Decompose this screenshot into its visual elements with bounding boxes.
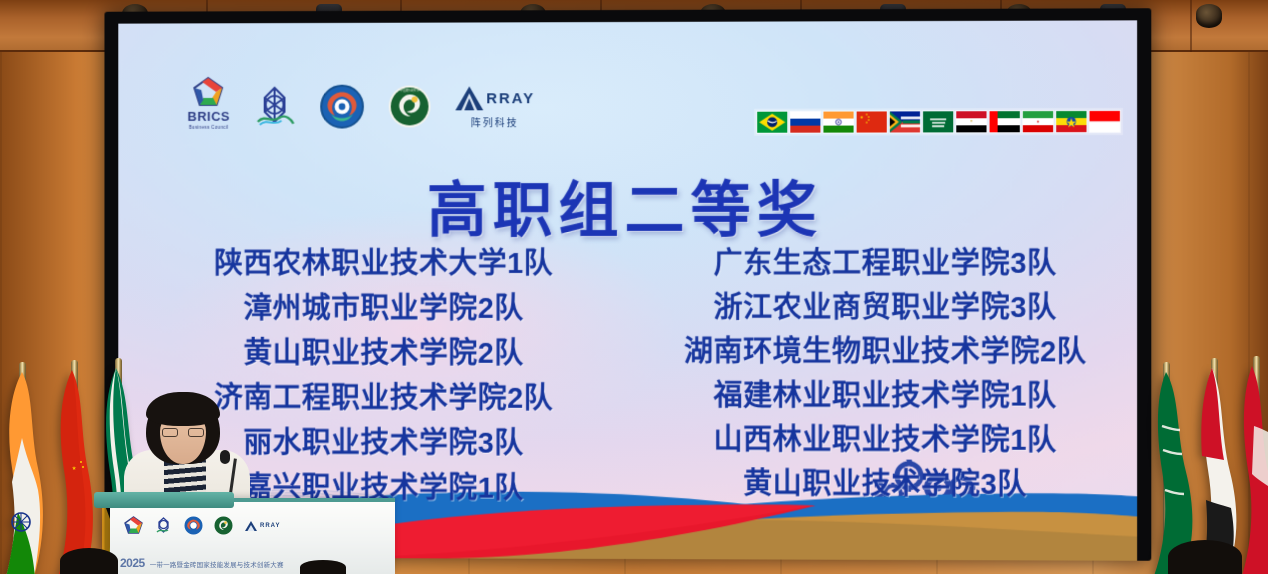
audience-head bbox=[1168, 540, 1242, 574]
podium-array-icon: RRAY bbox=[244, 520, 280, 532]
brics-wordmark: BRICS bbox=[187, 110, 230, 123]
ceiling-speaker bbox=[1196, 4, 1222, 28]
winner-entry: 黄山职业技术学院3队 bbox=[743, 470, 1027, 500]
audience-head bbox=[60, 548, 118, 574]
podium-event-name: 一带一路暨金砖国家技能发展与技术创新大赛 bbox=[150, 559, 284, 569]
podium-brics-icon bbox=[124, 516, 143, 535]
flag-south-africa bbox=[890, 111, 920, 132]
screen-logo-row: BRICS Business Council bbox=[187, 75, 535, 130]
flag-india bbox=[823, 112, 853, 133]
flag-iran bbox=[1023, 111, 1053, 132]
ceiling-seam bbox=[1190, 0, 1192, 52]
array-triangle-icon bbox=[454, 85, 484, 111]
winner-entry: 济南工程职业技术学院2队 bbox=[214, 384, 553, 413]
flag-egypt bbox=[956, 111, 986, 132]
led-display-bezel: BRICS Business Council bbox=[104, 8, 1151, 561]
winner-entry: 丽水职业技术学院3队 bbox=[243, 429, 523, 458]
speaker-glasses bbox=[162, 428, 204, 437]
flag-united-arab-emirates bbox=[990, 111, 1020, 132]
winner-entry: 漳州城市职业学院2队 bbox=[243, 295, 523, 324]
winner-entry: 湖南环境生物职业技术学院2队 bbox=[684, 338, 1087, 367]
blue-circular-emblem-logo bbox=[319, 84, 365, 130]
knot-emblem-logo bbox=[252, 84, 298, 130]
winner-entry: 黄山职业技术学院2队 bbox=[243, 340, 523, 369]
winner-entry: 福建林业职业技术学院1队 bbox=[713, 382, 1056, 412]
winner-entry: 陕西农林职业技术大学1队 bbox=[214, 250, 553, 279]
array-wordmark: RRAY bbox=[486, 90, 535, 107]
flag-indonesia bbox=[1090, 111, 1120, 132]
winner-entry: 浙江农业商贸职业学院3队 bbox=[713, 294, 1056, 323]
microphone-head bbox=[220, 450, 230, 464]
flag-ethiopia bbox=[1056, 111, 1086, 132]
award-category-title: 高职组二等奖 bbox=[118, 161, 1137, 249]
podium-logo-row: RRAY bbox=[124, 516, 280, 535]
podium-event-year: 2025 bbox=[120, 556, 145, 570]
winner-entry: 山西林业职业技术学院1队 bbox=[713, 426, 1056, 456]
podium-green-emblem-icon bbox=[214, 516, 233, 535]
conference-stage: BRICS Business Council bbox=[0, 0, 1268, 574]
green-circular-emblem-icon: 中国职业技术 bbox=[387, 83, 433, 129]
podium-knot-icon bbox=[154, 516, 173, 535]
brics-pentagon-icon bbox=[192, 76, 226, 108]
winner-entry: 广东生态工程职业学院3队 bbox=[713, 250, 1056, 279]
flag-russia bbox=[790, 112, 820, 133]
led-display: BRICS Business Council bbox=[118, 20, 1137, 560]
svg-text:中国职业技术: 中国职业技术 bbox=[399, 87, 420, 92]
green-circular-emblem-logo: 中国职业技术 bbox=[387, 83, 433, 129]
brics-business-council-logo: BRICS Business Council bbox=[187, 76, 230, 130]
member-country-flag-strip bbox=[754, 108, 1123, 136]
podium: RRAY 2025 一带一路暨金砖国家技能发展与技术创新大赛 bbox=[110, 498, 395, 574]
blue-circular-emblem-icon bbox=[319, 84, 365, 130]
podium-event-banner: 2025 一带一路暨金砖国家技能发展与技术创新大赛 bbox=[120, 556, 387, 570]
winners-list: 陕西农林职业技术大学1队 漳州城市职业学院2队 黄山职业技术学院2队 济南工程职… bbox=[158, 250, 1107, 522]
winners-column-right: 广东生态工程职业学院3队 浙江农业商贸职业学院3队 湖南环境生物职业技术学院2队… bbox=[664, 250, 1107, 522]
knot-emblem-icon bbox=[252, 84, 298, 130]
array-chinese-name: 阵列科技 bbox=[471, 114, 519, 129]
array-technology-logo: RRAY 阵列科技 bbox=[454, 85, 535, 129]
flag-china bbox=[857, 111, 887, 132]
audience-head bbox=[300, 560, 346, 574]
flag-saudi-arabia bbox=[923, 111, 953, 132]
podium-blue-emblem-icon bbox=[184, 516, 203, 535]
flag-brazil bbox=[757, 112, 787, 133]
speaker-fringe bbox=[146, 392, 220, 426]
brics-subtitle: Business Council bbox=[189, 125, 229, 130]
